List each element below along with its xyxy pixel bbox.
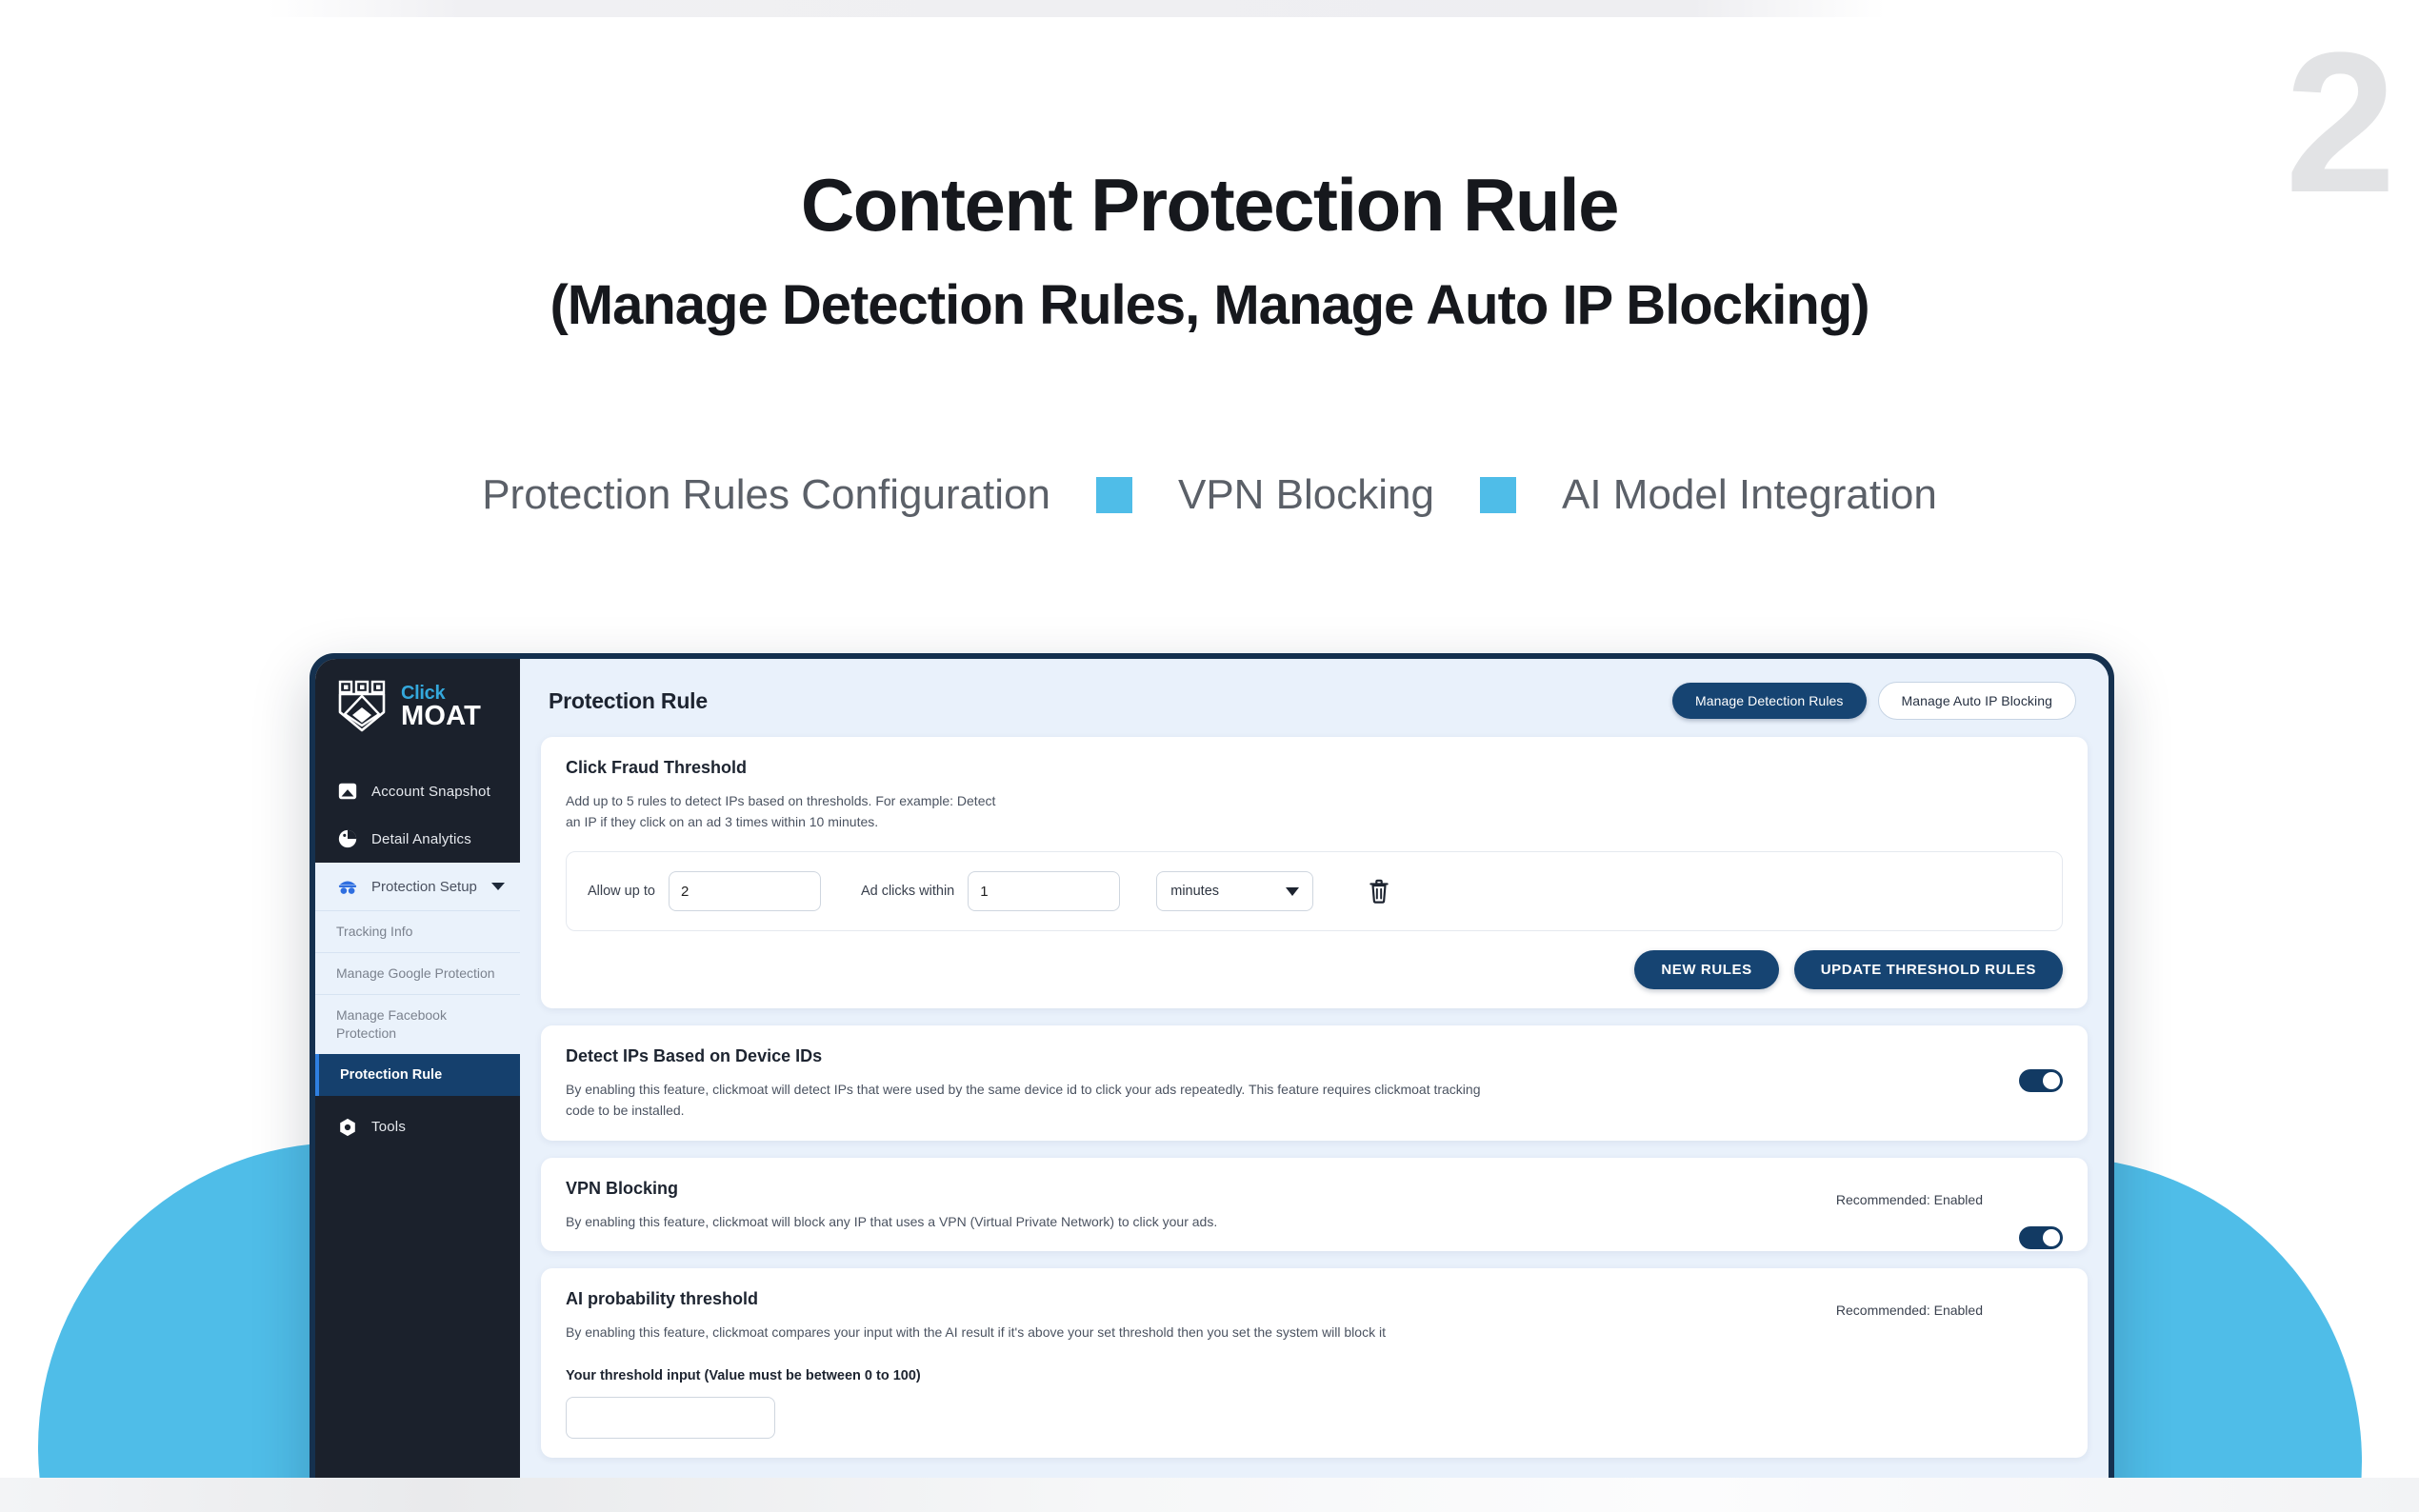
content-header: Protection Rule Manage Detection Rules M… xyxy=(520,659,2109,737)
card-description-line-1: Add up to 5 rules to detect IPs based on… xyxy=(566,791,1566,812)
logo-wordmark: Click MOAT xyxy=(401,680,481,730)
feature-separator-square-1 xyxy=(1096,477,1132,513)
sidebar-item-protection-rule[interactable]: Protection Rule xyxy=(315,1054,520,1096)
sidebar-group-label: Protection Setup xyxy=(371,879,479,895)
sidebar: Click MOAT Account Snapshot xyxy=(315,659,520,1512)
main-content: Protection Rule Manage Detection Rules M… xyxy=(520,659,2109,1512)
logo-moat-text: MOAT xyxy=(401,703,481,730)
sidebar-nav-tail: Tools xyxy=(315,1096,520,1151)
card-description: By enabling this feature, clickmoat will… xyxy=(566,1212,1566,1233)
card-detect-ips-device-ids: Detect IPs Based on Device IDs By enabli… xyxy=(541,1025,2088,1140)
sidebar-item-manage-facebook-protection[interactable]: Manage Facebook Protection xyxy=(315,994,520,1054)
chevron-down-icon xyxy=(1286,887,1299,896)
time-unit-value: minutes xyxy=(1170,884,1219,899)
feature-item-2: VPN Blocking xyxy=(1178,471,1434,519)
new-rules-button[interactable]: NEW RULES xyxy=(1634,950,1778,989)
time-unit-select[interactable]: minutes xyxy=(1156,871,1313,911)
vpn-blocking-toggle[interactable] xyxy=(2019,1226,2063,1249)
sidebar-item-protection-setup[interactable]: Protection Setup xyxy=(315,863,520,910)
card-vpn-blocking: VPN Blocking By enabling this feature, c… xyxy=(541,1158,2088,1252)
threshold-input[interactable] xyxy=(566,1397,775,1439)
feature-list: Protection Rules Configuration VPN Block… xyxy=(0,471,2419,519)
app-window-frame: Click MOAT Account Snapshot xyxy=(310,653,2114,1512)
manage-auto-ip-blocking-button[interactable]: Manage Auto IP Blocking xyxy=(1878,682,2076,720)
card-description: By enabling this feature, clickmoat comp… xyxy=(566,1323,1566,1343)
feature-separator-square-2 xyxy=(1480,477,1516,513)
threshold-input-label: Your threshold input (Value must be betw… xyxy=(566,1368,2063,1383)
update-threshold-rules-button[interactable]: UPDATE THRESHOLD RULES xyxy=(1794,950,2063,989)
page-title: Content Protection Rule xyxy=(0,162,2419,249)
allow-up-to-input[interactable] xyxy=(669,871,821,911)
gear-hex-icon xyxy=(336,1116,359,1139)
allow-up-to-label: Allow up to xyxy=(588,884,655,899)
sidebar-item-account-snapshot[interactable]: Account Snapshot xyxy=(315,767,520,815)
spy-detective-icon xyxy=(336,875,359,898)
trash-icon[interactable] xyxy=(1367,878,1391,905)
card-description-line-1: By enabling this feature, clickmoat will… xyxy=(566,1080,1566,1101)
sidebar-item-detail-analytics[interactable]: Detail Analytics xyxy=(315,815,520,863)
sidebar-item-label: Account Snapshot xyxy=(371,784,490,800)
sidebar-item-manage-google-protection[interactable]: Manage Google Protection xyxy=(315,952,520,994)
card-action-buttons: NEW RULES UPDATE THRESHOLD RULES xyxy=(566,950,2063,989)
card-title: Click Fraud Threshold xyxy=(566,758,2063,778)
sidebar-group-protection-setup: Protection Setup Tracking Info Manage Go… xyxy=(315,863,520,1054)
threshold-rule-row: Allow up to Ad clicks within minutes xyxy=(566,851,2063,931)
ad-clicks-within-input[interactable] xyxy=(968,871,1120,911)
card-title: Detect IPs Based on Device IDs xyxy=(566,1046,2063,1066)
bottom-edge-band xyxy=(0,1478,2419,1512)
sidebar-item-tools[interactable]: Tools xyxy=(315,1104,520,1151)
sidebar-item-tracking-info[interactable]: Tracking Info xyxy=(315,910,520,952)
header-button-group: Manage Detection Rules Manage Auto IP Bl… xyxy=(1672,682,2076,720)
card-click-fraud-threshold: Click Fraud Threshold Add up to 5 rules … xyxy=(541,737,2088,1008)
sidebar-item-label: Tools xyxy=(371,1119,406,1135)
card-description-line-2: an IP if they click on an ad 3 times wit… xyxy=(566,812,1566,833)
ad-clicks-within-label: Ad clicks within xyxy=(861,884,954,899)
pie-chart-icon xyxy=(336,827,359,850)
page-subtitle: (Manage Detection Rules, Manage Auto IP … xyxy=(0,273,2419,337)
toggle-knob xyxy=(2043,1229,2060,1246)
chevron-down-icon[interactable] xyxy=(491,883,505,890)
clickmoat-shield-icon xyxy=(336,680,393,739)
image-snapshot-icon xyxy=(336,780,359,803)
card-ai-probability-threshold: AI probability threshold By enabling thi… xyxy=(541,1268,2088,1458)
heading-block: Content Protection Rule (Manage Detectio… xyxy=(0,162,2419,337)
slide-canvas: 2 Content Protection Rule (Manage Detect… xyxy=(0,0,2419,1512)
content-title: Protection Rule xyxy=(549,688,708,714)
feature-item-3: AI Model Integration xyxy=(1562,471,1937,519)
feature-item-1: Protection Rules Configuration xyxy=(482,471,1050,519)
sidebar-item-label: Detail Analytics xyxy=(371,831,471,847)
vpn-recommended-label: Recommended: Enabled xyxy=(1836,1192,1983,1207)
app-window: Click MOAT Account Snapshot xyxy=(315,659,2109,1512)
sidebar-nav: Account Snapshot Detail Analytics xyxy=(315,767,520,1151)
device-ids-toggle[interactable] xyxy=(2019,1069,2063,1092)
app-logo[interactable]: Click MOAT xyxy=(315,659,520,739)
top-edge-band xyxy=(267,0,1886,17)
card-description-line-2: code to be installed. xyxy=(566,1101,1566,1122)
ai-recommended-label: Recommended: Enabled xyxy=(1836,1303,1983,1318)
toggle-knob xyxy=(2043,1072,2060,1089)
card-list: Click Fraud Threshold Add up to 5 rules … xyxy=(520,737,2109,1458)
manage-detection-rules-button[interactable]: Manage Detection Rules xyxy=(1672,683,1867,719)
